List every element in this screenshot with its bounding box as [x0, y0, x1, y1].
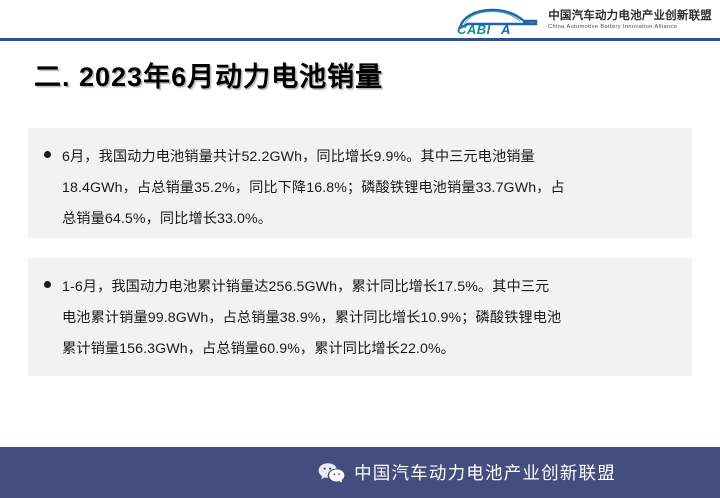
paragraph-2-line-3: 累计销量156.3GWh，占总销量60.9%，累计同比增长22.0%。	[62, 334, 674, 365]
footer-lockup: 中国汽车动力电池产业创新联盟	[318, 460, 616, 485]
bullet-paragraph-1: 6月，我国动力电池销量共计52.2GWh，同比增长9.9%。其中三元电池销量 1…	[44, 142, 674, 235]
cabia-car-logo-icon: CABI A	[448, 7, 540, 35]
paragraph-text-2: 1-6月，我国动力电池累计销量达256.5GWh，累计同比增长17.5%。其中三…	[62, 272, 674, 365]
paragraph-1-line-2: 18.4GWh，占总销量35.2%，同比下降16.8%；磷酸铁锂电池销量33.7…	[62, 173, 674, 204]
bullet-point-icon	[44, 272, 62, 288]
svg-text:CABI: CABI	[457, 22, 491, 35]
page-footer: 中国汽车动力电池产业创新联盟	[0, 447, 720, 498]
brand-lockup: CABI A 中国汽车动力电池产业创新联盟 China Automotive B…	[448, 6, 712, 36]
header-divider	[0, 38, 720, 41]
paragraph-2-line-1: 1-6月，我国动力电池累计销量达256.5GWh，累计同比增长17.5%。其中三…	[62, 272, 674, 303]
org-name-cn: 中国汽车动力电池产业创新联盟	[548, 11, 712, 23]
wechat-icon	[318, 462, 345, 484]
bullet-point-icon	[44, 142, 62, 158]
page-title: 二. 2023年6月动力电池销量	[34, 55, 383, 94]
paragraph-1-line-1: 6月，我国动力电池销量共计52.2GWh，同比增长9.9%。其中三元电池销量	[62, 142, 674, 173]
page-header: CABI A 中国汽车动力电池产业创新联盟 China Automotive B…	[0, 0, 720, 41]
paragraph-1-line-3: 总销量64.5%，同比增长33.0%。	[62, 204, 674, 235]
paragraph-text-1: 6月，我国动力电池销量共计52.2GWh，同比增长9.9%。其中三元电池销量 1…	[62, 142, 674, 235]
footer-org-name: 中国汽车动力电池产业创新联盟	[354, 460, 616, 485]
brand-text-block: 中国汽车动力电池产业创新联盟 China Automotive Battery …	[548, 11, 712, 31]
bullet-paragraph-2: 1-6月，我国动力电池累计销量达256.5GWh，累计同比增长17.5%。其中三…	[44, 272, 674, 365]
org-name-en: China Automotive Battery Innovation Alli…	[548, 25, 715, 31]
svg-text:A: A	[500, 22, 511, 35]
content-card-1: 6月，我国动力电池销量共计52.2GWh，同比增长9.9%。其中三元电池销量 1…	[28, 128, 692, 238]
content-card-2: 1-6月，我国动力电池累计销量达256.5GWh，累计同比增长17.5%。其中三…	[28, 258, 692, 376]
paragraph-2-line-2: 电池累计销量99.8GWh，占总销量38.9%，累计同比增长10.9%；磷酸铁锂…	[62, 303, 674, 334]
